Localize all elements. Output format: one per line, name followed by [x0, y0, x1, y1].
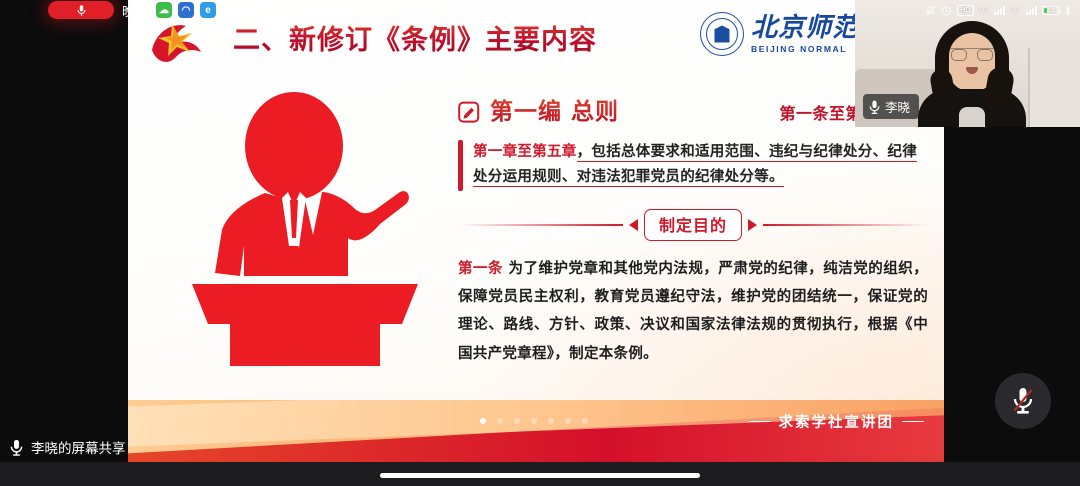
- home-indicator[interactable]: [380, 473, 700, 478]
- microphone-muted-icon: [1010, 386, 1036, 416]
- video-door: [1028, 48, 1080, 127]
- edge-browser-icon[interactable]: e: [200, 2, 216, 18]
- bell-off-icon: [925, 5, 936, 16]
- callout-block: 第一章至第五章，包括总体要求和适用范围、违纪与纪律处分、纪律处分运用规则、对违法…: [458, 140, 928, 191]
- participant-name: 李晓: [885, 97, 910, 116]
- battery-indicator: 22: [1042, 6, 1059, 15]
- network-label-1: 5G: [979, 7, 989, 14]
- slide-title: 二、新修订《条例》主要内容: [233, 18, 597, 57]
- slide-content-column: 第一编 总则 第一条至第四十八条 第一章至第五章，包括总体要求和适用范围、违纪与…: [458, 92, 928, 368]
- hd-badge: HD: [957, 5, 973, 16]
- divider-badge: 制定目的: [644, 209, 742, 241]
- screen-share-text: 李晓的屏幕共享: [31, 437, 126, 457]
- signal-bars-1: [994, 6, 1005, 15]
- participant-glasses: [951, 49, 993, 61]
- university-name-en: BEIJING NORMAL: [751, 45, 859, 54]
- phone-status-bar: HD 5G 5G 22: [855, 0, 1080, 20]
- brand-rule-right: [902, 421, 924, 423]
- screen-share-meeting-view: 二、新修订《条例》主要内容 北京师范 BEIJING NORMAL: [0, 0, 1080, 486]
- section-title: 第一编 总则: [490, 92, 619, 126]
- battery-level: 22: [1043, 7, 1058, 14]
- brand-text: 求索学社宣讲团: [779, 411, 895, 432]
- microphone-icon: [10, 439, 23, 456]
- callout-accent-bar: [458, 140, 463, 191]
- notification-app-icons: ☁◠e: [156, 2, 216, 18]
- speaker-at-podium-icon: [170, 88, 440, 393]
- mute-toggle-button[interactable]: [995, 373, 1051, 429]
- signal-bars-2: [1026, 6, 1037, 15]
- shared-slide[interactable]: 二、新修订《条例》主要内容 北京师范 BEIJING NORMAL: [128, 0, 944, 462]
- divider-line-left: [458, 224, 623, 226]
- bnu-seal-icon: [700, 12, 744, 56]
- pagination-dot[interactable]: [565, 418, 571, 424]
- article-label: 第一条: [458, 261, 503, 277]
- microphone-icon: [869, 100, 880, 114]
- status-clock-text: 晚: [122, 1, 135, 20]
- microphone-icon: [77, 4, 86, 17]
- recording-indicator-pill[interactable]: [48, 1, 114, 19]
- pagination-dot[interactable]: [480, 418, 486, 424]
- edit-pen-icon: [458, 101, 480, 123]
- university-logo: 北京师范 BEIJING NORMAL: [700, 12, 859, 56]
- brand-rule-left: [749, 421, 771, 423]
- participant-shirt: [959, 107, 985, 127]
- slide-pagination[interactable]: [480, 418, 588, 424]
- wechat-icon[interactable]: ☁: [156, 2, 172, 18]
- bluetooth-icon: [1064, 5, 1072, 16]
- callout-text: 第一章至第五章，包括总体要求和适用范围、违纪与纪律处分、纪律处分运用规则、对违法…: [473, 140, 928, 191]
- participant-name-badge: 李晓: [863, 94, 919, 119]
- pagination-dot[interactable]: [531, 418, 537, 424]
- pagination-dot[interactable]: [497, 418, 503, 424]
- divider-arrow-right-icon: [748, 219, 757, 231]
- article-body: 第一条 为了维护党章和其他党内法规，严肃党的纪律，纯洁党的组织，保障党员民主权利…: [458, 255, 928, 368]
- pagination-dot[interactable]: [582, 418, 588, 424]
- article-text: 为了维护党章和其他党内法规，严肃党的纪律，纯洁党的组织，保障党员民主权利，教育党…: [458, 261, 928, 362]
- alarm-clock-icon: [941, 5, 952, 16]
- university-name-cn: 北京师范: [751, 15, 859, 41]
- pagination-dot[interactable]: [514, 418, 520, 424]
- flame-ribbon-logo: [146, 14, 208, 70]
- callout-highlight: 第一章至第五章: [473, 144, 577, 160]
- divider-arrow-left-icon: [629, 219, 638, 231]
- screen-share-status: 李晓的屏幕共享: [10, 437, 126, 457]
- network-label-2: 5G: [1010, 7, 1020, 14]
- divider-line-right: [763, 224, 928, 226]
- section-divider: 制定目的: [458, 209, 928, 241]
- slide-footer-brand: 求索学社宣讲团: [749, 411, 925, 432]
- video-participant: [916, 17, 1028, 127]
- pagination-dot[interactable]: [548, 418, 554, 424]
- cloud-app-icon[interactable]: ◠: [178, 2, 194, 18]
